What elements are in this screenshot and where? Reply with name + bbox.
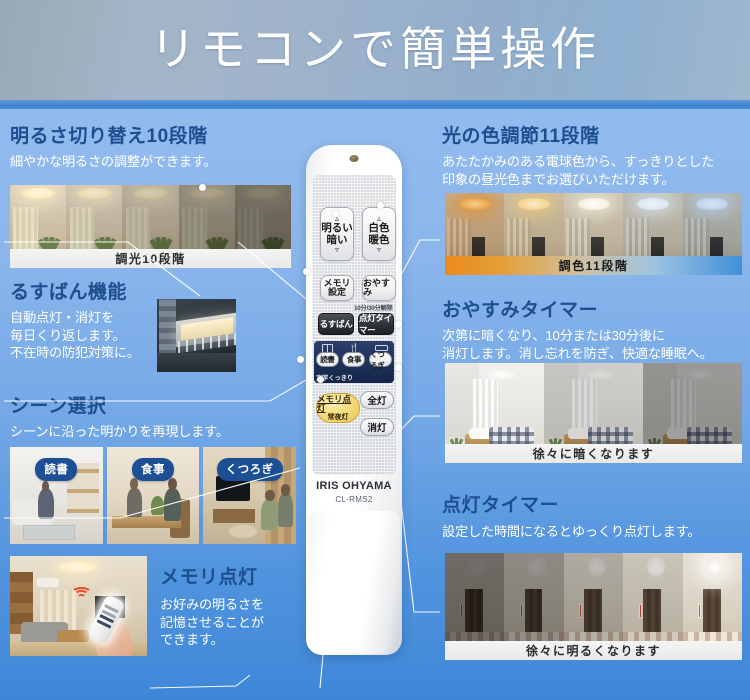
chevron-down-icon: ▿ <box>377 246 381 253</box>
button-all-on-label: 全灯 <box>367 393 386 407</box>
section-memory-heading: メモリ点灯 <box>160 562 264 589</box>
remote-control: ▵ 明るい 暗い ▿ ▵ 白色 暖色 ▿ メモリ 設定 おやすみ 10分/30分… <box>306 145 402 655</box>
section-away-body-line-1: 自動点灯・消灯を <box>10 309 140 327</box>
scene-button-panel: 🍴 読書 食事 くつろぎ 文字くっきり <box>314 341 394 383</box>
ir-emitter-icon <box>350 155 359 162</box>
scene-photo-relax: くつろぎ <box>203 447 296 544</box>
button-scene-meal-label: 食事 <box>347 354 361 365</box>
button-scene-read-label: 読書 <box>320 354 334 365</box>
callout-dot-color-button <box>377 202 384 209</box>
button-memory-light-label-1: メモリ点灯 <box>317 395 359 413</box>
callout-dot-memory-button <box>317 376 324 383</box>
section-sleep-timer: おやすみタイマー 次第に暗くなり、10分または30分後に 消灯します。消し忘れを… <box>442 295 713 362</box>
section-memory-body-line-1: お好みの明るさを <box>160 596 264 614</box>
section-scene-body: シーンに沿った明かりを再現します。 <box>10 423 229 441</box>
brightness-photo-caption: 調光10段階 <box>10 249 291 268</box>
section-on-timer-heading: 点灯タイマー <box>442 490 700 517</box>
button-scene-meal[interactable]: 食事 <box>342 352 365 367</box>
button-memory-set[interactable]: メモリ 設定 <box>320 275 354 301</box>
model-label: CL-RMS2 <box>306 495 402 504</box>
section-color-temp-body-line-2: 印象の昼光色までお選びいただけます。 <box>442 171 714 189</box>
scene-photo-row: 読書 食事 くつろぎ <box>10 447 296 544</box>
chevron-up-icon: ▵ <box>377 215 381 222</box>
button-scene-relax-label: くつろぎ <box>370 349 391 371</box>
sleep-button-note: 10分/30分解除 <box>354 303 392 312</box>
button-all-off[interactable]: 消灯 <box>360 418 394 436</box>
sleep-timer-photo-caption: 徐々に暗くなります <box>445 444 742 463</box>
section-brightness-heading: 明るさ切り替え10段階 <box>10 121 216 148</box>
button-color-temp[interactable]: ▵ 白色 暖色 ▿ <box>362 207 396 261</box>
button-all-on[interactable]: 全灯 <box>360 391 394 409</box>
section-sleep-timer-body-line-1: 次第に暗くなり、10分または30分後に <box>442 327 713 345</box>
callout-dot-sleep-button <box>395 321 402 328</box>
section-scene: シーン選択 シーンに沿った明かりを再現します。 <box>10 391 229 441</box>
button-sleep-label: おやすみ <box>363 279 395 298</box>
scene-label-read: 読書 <box>35 458 77 481</box>
sleep-timer-photo-strip: 徐々に暗くなります <box>445 363 742 463</box>
section-scene-heading: シーン選択 <box>10 391 229 418</box>
section-on-timer-body: 設定した時間になるとゆっくり点灯します。 <box>442 523 700 541</box>
section-brightness: 明るさ切り替え10段階 細やかな明るさの調整ができます。 <box>10 121 216 171</box>
button-on-timer-label: 点灯タイマー <box>359 312 393 336</box>
ir-signal-icon <box>70 586 92 600</box>
color-temp-photo-strip: 調色11段階 <box>445 193 742 275</box>
section-sleep-timer-body-line-2: 消灯します。消し忘れを防ぎ、快適な睡眠へ。 <box>442 345 713 363</box>
section-on-timer: 点灯タイマー 設定した時間になるとゆっくり点灯します。 <box>442 490 700 541</box>
section-color-temp: 光の色調節11段階 あたたかみのある電球色から、すっきりとした 印象の昼光色まで… <box>442 121 714 188</box>
section-sleep-timer-heading: おやすみタイマー <box>442 295 713 322</box>
button-memory-set-label-2: 設定 <box>328 288 346 298</box>
on-timer-photo-caption: 徐々に明るくなります <box>445 641 742 660</box>
cutlery-icon: 🍴 <box>348 344 359 352</box>
button-all-off-label: 消灯 <box>367 420 386 434</box>
scene-photo-read: 読書 <box>10 447 103 544</box>
scene-label-relax: くつろぎ <box>217 458 283 481</box>
section-away-body-line-3: 不在時の防犯対策に。 <box>10 344 140 362</box>
brand-label: IRIS OHYAMA <box>306 480 402 492</box>
section-away: るすばん機能 自動点灯・消灯を 毎日くり返します。 不在時の防犯対策に。 <box>10 277 140 362</box>
section-away-heading: るすばん機能 <box>10 277 140 304</box>
section-memory: メモリ点灯 お好みの明るさを 記憶させることが できます。 <box>160 562 264 649</box>
book-icon <box>322 344 333 352</box>
page-title: リモコンで簡単操作 <box>0 12 750 86</box>
button-on-timer[interactable]: 点灯タイマー <box>358 313 394 335</box>
section-away-body-line-2: 毎日くり返します。 <box>10 327 140 345</box>
scene-label-meal: 食事 <box>132 458 174 481</box>
button-scene-relax[interactable]: くつろぎ <box>369 352 392 367</box>
button-memory-light-label-2: 常夜灯 <box>328 413 349 422</box>
callout-dot-scene-button <box>297 356 304 363</box>
section-memory-body-line-2: 記憶させることが <box>160 614 264 632</box>
section-brightness-body: 細やかな明るさの調整ができます。 <box>10 153 216 171</box>
callout-dot-away-button <box>303 268 310 275</box>
button-away-label: るすばん <box>320 318 353 330</box>
brightness-photo-strip: 調光10段階 <box>10 185 291 268</box>
chevron-down-icon: ▿ <box>335 246 339 253</box>
away-photo <box>157 299 236 372</box>
scene-photo-meal: 食事 <box>107 447 200 544</box>
callout-dot-on-timer-button <box>395 364 402 371</box>
on-timer-photo-strip: 徐々に明るくなります <box>445 553 742 660</box>
button-brightness-up-label: 明るい <box>321 222 353 234</box>
color-temp-photo-caption: 調色11段階 <box>445 256 742 275</box>
button-color-white-label: 白色 <box>369 222 390 234</box>
button-memory-light[interactable]: メモリ点灯 常夜灯 <box>316 393 360 423</box>
section-color-temp-body-line-1: あたたかみのある電球色から、すっきりとした <box>442 153 714 171</box>
memory-photo <box>10 556 147 656</box>
button-sleep[interactable]: おやすみ <box>362 275 396 301</box>
callout-dot-brightness-button <box>332 210 339 217</box>
button-away[interactable]: るすばん <box>318 313 354 335</box>
page-header: リモコンで簡単操作 <box>0 0 750 100</box>
content-stage: 明るさ切り替え10段階 細やかな明るさの調整ができます。 調光10段階 るすばん… <box>0 109 750 700</box>
section-color-temp-heading: 光の色調節11段階 <box>442 121 714 148</box>
button-scene-read[interactable]: 読書 <box>316 352 339 367</box>
remote-lower-body <box>308 511 400 653</box>
section-memory-body-line-3: できます。 <box>160 631 264 649</box>
callout-dot-brightness <box>199 184 206 191</box>
header-accent-bar <box>0 100 750 109</box>
